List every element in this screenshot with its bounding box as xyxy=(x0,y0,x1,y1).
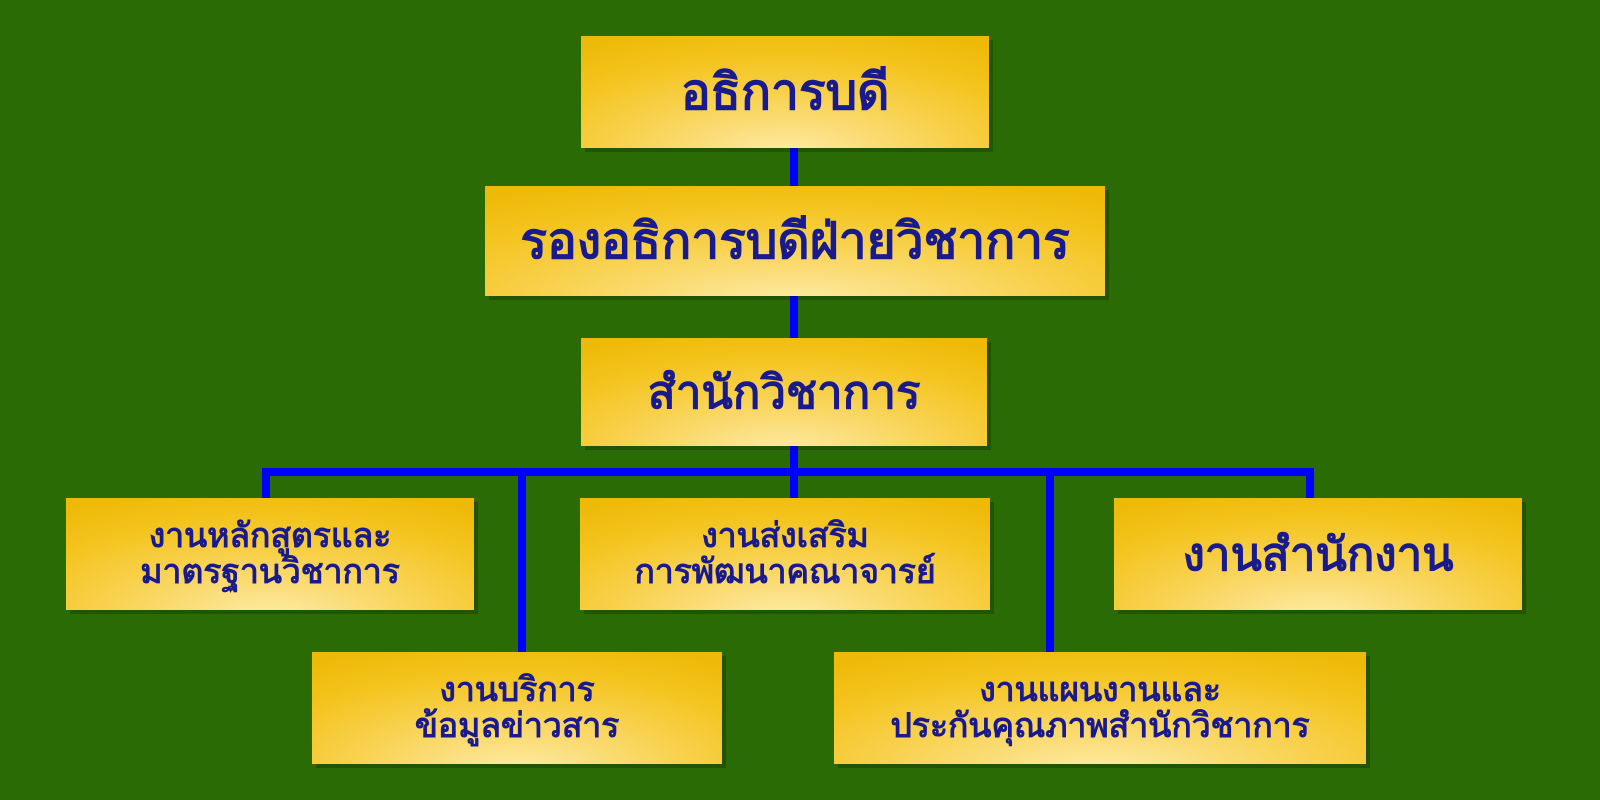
org-node-planning-quality-assurance[interactable]: งานแผนงานและ ประกันคุณภาพสำนักวิชาการ xyxy=(834,652,1366,764)
connector-drop-curriculum xyxy=(262,468,270,500)
org-node-information-service[interactable]: งานบริการ ข้อมูลข่าวสาร xyxy=(312,652,722,764)
org-node-vice-rector[interactable]: รองอธิการบดีฝ่ายวิชาการ xyxy=(485,186,1105,296)
connector-distribution-bar xyxy=(262,468,1314,476)
org-node-curriculum[interactable]: งานหลักสูตรและ มาตรฐานวิชาการ xyxy=(66,498,474,610)
connector-rector-to-vice-rector xyxy=(790,148,798,186)
org-node-office-work[interactable]: งานสำนักงาน xyxy=(1114,498,1522,610)
org-chart-canvas: อธิการบดี รองอธิการบดีฝ่ายวิชาการ สำนักว… xyxy=(0,0,1600,800)
connector-drop-info-service xyxy=(518,468,526,654)
org-node-planning-quality-assurance-label: งานแผนงานและ ประกันคุณภาพสำนักวิชาการ xyxy=(884,672,1315,744)
org-node-faculty-development[interactable]: งานส่งเสริม การพัฒนาคณาจารย์ xyxy=(580,498,990,610)
connector-vice-rector-to-academic-office xyxy=(790,296,798,338)
org-node-office-work-label: งานสำนักงาน xyxy=(1177,530,1460,579)
org-node-academic-office[interactable]: สำนักวิชาการ xyxy=(581,338,987,446)
org-node-curriculum-label: งานหลักสูตรและ มาตรฐานวิชาการ xyxy=(134,518,406,590)
org-node-information-service-label: งานบริการ ข้อมูลข่าวสาร xyxy=(409,672,625,744)
org-node-academic-office-label: สำนักวิชาการ xyxy=(642,368,927,417)
connector-drop-office-work xyxy=(1306,468,1314,500)
connector-drop-planning-qa xyxy=(1046,468,1054,654)
org-node-rector[interactable]: อธิการบดี xyxy=(581,36,989,148)
org-node-faculty-development-label: งานส่งเสริม การพัฒนาคณาจารย์ xyxy=(628,518,941,590)
org-node-vice-rector-label: รองอธิการบดีฝ่ายวิชาการ xyxy=(514,215,1075,268)
connector-drop-faculty-dev xyxy=(790,468,798,500)
org-node-rector-label: อธิการบดี xyxy=(675,66,896,119)
